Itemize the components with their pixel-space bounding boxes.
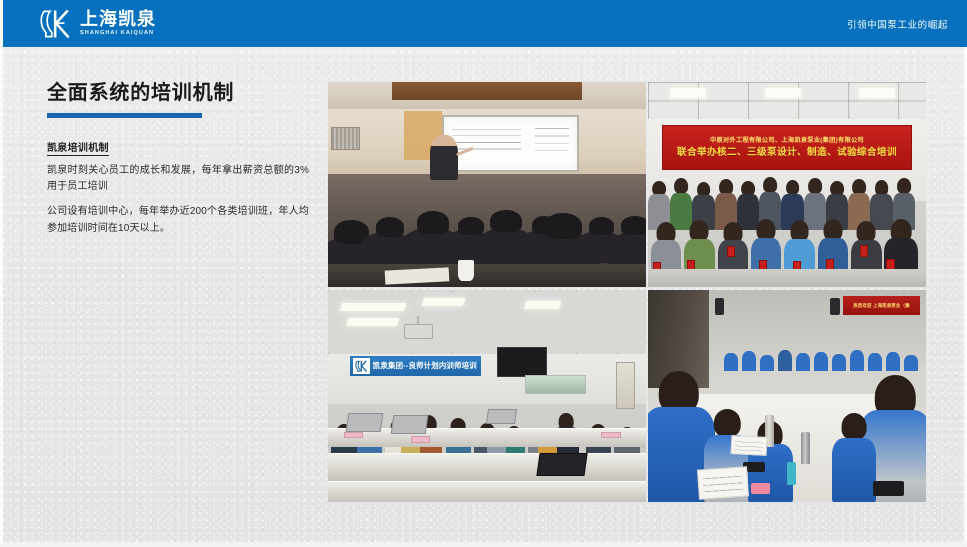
header-slogan: 引领中国泵工业的崛起: [847, 17, 948, 31]
wall-vent: [331, 127, 360, 150]
slide-header: 上海凯泉 SHANGHAI KAIQUAN 引领中国泵工业的崛起: [3, 0, 967, 47]
floor-area: [648, 269, 926, 287]
photo-workshop-discussion: 热烈欢迎 上海凯泉泵业（集: [648, 290, 926, 502]
red-banner-text: 热烈欢迎 上海凯泉泵业（集: [853, 303, 910, 309]
photo-group-certificate: 中原对外工程有限公司、上海凯泉泵业(集团)有限公司 联合举办核二、三级泵设计、制…: [648, 82, 926, 287]
page-title: 全面系统的培训机制: [47, 82, 309, 104]
brand-logo: 上海凯泉 SHANGHAI KAIQUAN: [39, 8, 156, 40]
kaiquan-k-mark-icon: [353, 358, 370, 374]
banner-line-2: 联合举办核二、三级泵设计、制造、试验综合培训: [677, 148, 897, 158]
body-paragraph-2: 公司设有培训中心，每年举办近200个各类培训班，年人均参加培训时间在10天以上。: [47, 204, 309, 236]
brand-name-en: SHANGHAI KAIQUAN: [80, 31, 156, 37]
text-column: 全面系统的培训机制 凯泉培训机制 凯泉时刻关心员工的成长和发展，每年拿出薪资总额…: [47, 82, 309, 237]
photo-training-center: 凯泉集团--良师计划内训师培训: [328, 290, 646, 502]
blue-banner: 凯泉集团--良师计划内训师培训: [350, 356, 480, 376]
paper-handout: [385, 267, 449, 285]
participant-mid-right: [832, 413, 876, 502]
section-subheading: 凯泉培训机制: [47, 139, 109, 156]
photo-grid: 中原对外工程有限公司、上海凯泉泵业(集团)有限公司 联合举办核二、三级泵设计、制…: [328, 82, 926, 502]
red-banner: 中原对外工程有限公司、上海凯泉泵业(集团)有限公司 联合举办核二、三级泵设计、制…: [662, 125, 912, 170]
background-attendees: [720, 341, 920, 371]
paper-cup: [458, 260, 474, 281]
red-banner: 热烈欢迎 上海凯泉泵业（集: [843, 296, 921, 315]
body-paragraph-1: 凯泉时刻关心员工的成长和发展，每年拿出薪资总额的3%用于员工培训: [47, 163, 309, 195]
front-desk: [328, 264, 646, 287]
title-underline-rule: [47, 113, 202, 118]
kaiquan-k-mark-icon: [39, 8, 73, 40]
banner-line-1: 中原对外工程有限公司、上海凯泉泵业(集团)有限公司: [710, 138, 864, 144]
photo-lecture-hall: [328, 82, 646, 287]
ceiling-projector: [404, 324, 433, 339]
brand-wordmark: 上海凯泉 SHANGHAI KAIQUAN: [80, 10, 156, 37]
brand-name-cn: 上海凯泉: [80, 10, 156, 28]
wall-monitor: [497, 347, 548, 377]
wood-beam: [392, 82, 583, 100]
blue-banner-text: 凯泉集团--良师计划内训师培训: [373, 362, 477, 369]
whiteboard: [442, 115, 579, 172]
slide-canvas: 上海凯泉 SHANGHAI KAIQUAN 引领中国泵工业的崛起 全面系统的培训…: [0, 0, 967, 547]
